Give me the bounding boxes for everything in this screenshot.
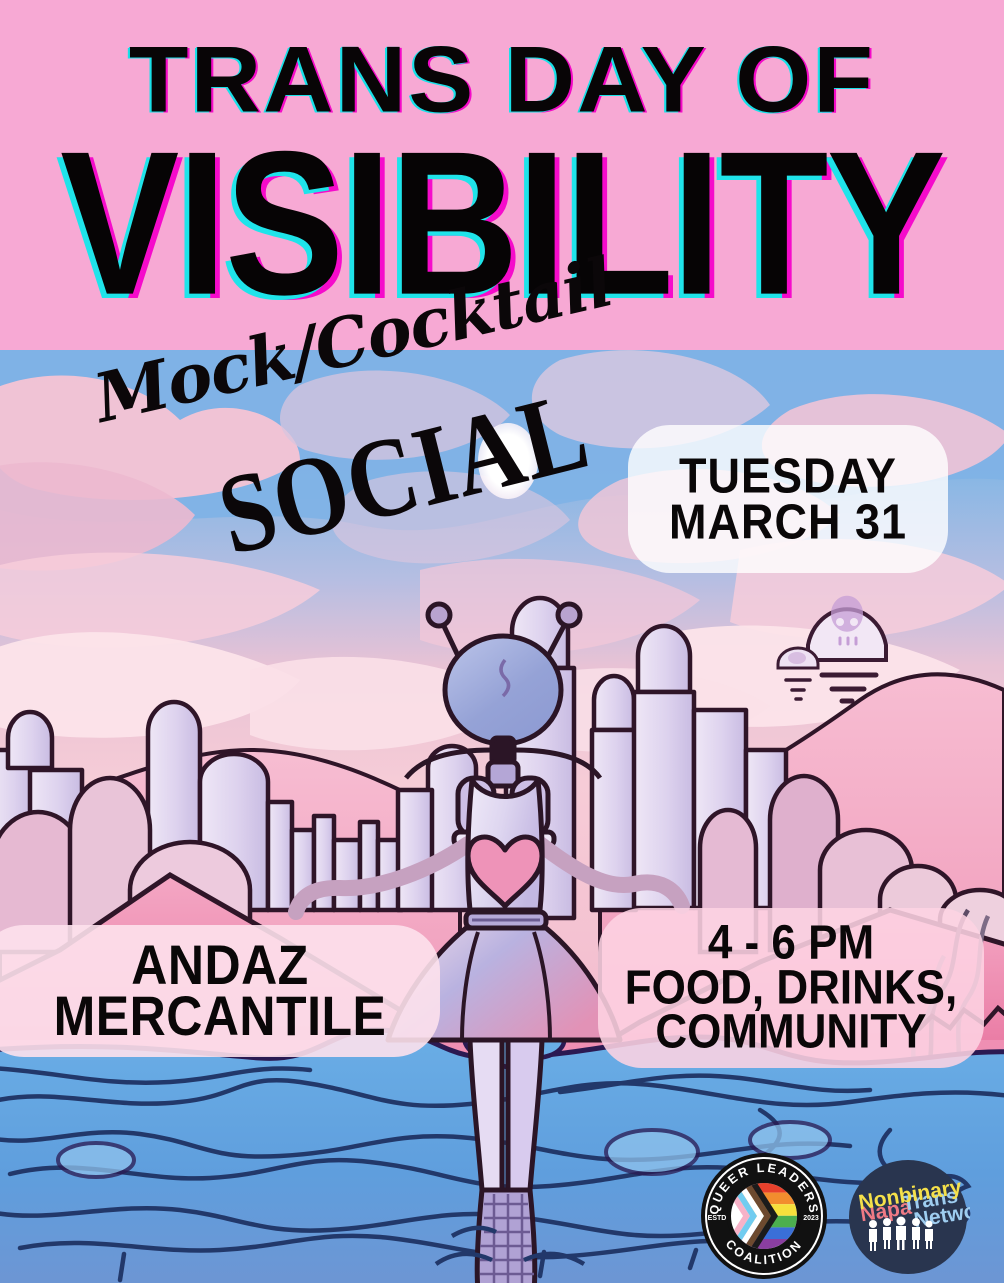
robot-antenna-ball-left	[428, 604, 450, 626]
robot-head	[445, 636, 561, 744]
napa-trans-nonbinary-network-logo: Napa Trans Nonbinary Network	[846, 1158, 970, 1276]
robot-antenna-ball-right	[558, 604, 580, 626]
venue-card: ANDAZ MERCANTILE	[0, 925, 440, 1057]
logo-estd-label: ESTD	[708, 1215, 727, 1222]
date-card: TUESDAY MARCH 31	[628, 425, 948, 573]
queer-leaders-coalition-logo: QUEER LEADERS COALITION ESTD 2023	[700, 1152, 828, 1280]
details-card: 4 - 6 PM FOOD, DRINKS, COMMUNITY	[598, 908, 984, 1068]
date-card-line2: MARCH 31	[669, 497, 907, 547]
venue-card-line2: MERCANTILE	[54, 988, 387, 1045]
details-card-line3: COMMUNITY	[655, 1008, 926, 1057]
logo-year-label: 2023	[803, 1215, 819, 1222]
poster-canvas: TRANS DAY OF VISIBILITY Mock/Cocktail SO…	[0, 0, 1004, 1283]
robot-neck-collar	[488, 762, 518, 786]
